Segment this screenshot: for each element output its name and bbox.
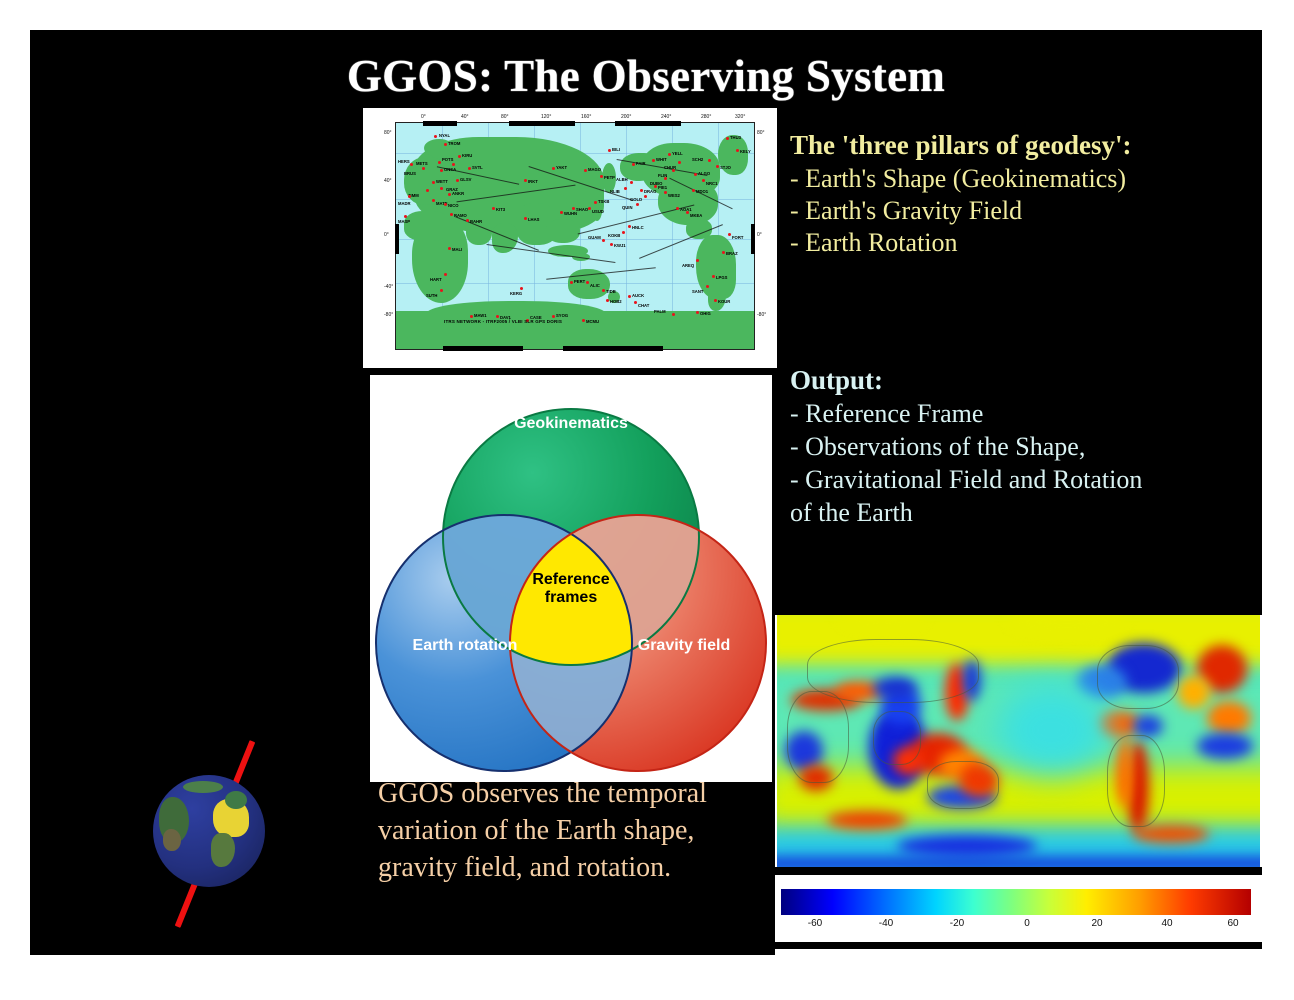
pillar-item: - Earth Rotation xyxy=(790,228,1260,258)
colorbar-tick: -60 xyxy=(808,918,822,929)
station-label: TROM xyxy=(448,141,460,146)
station-label: RAMO xyxy=(454,213,467,218)
station-label: QUIN xyxy=(622,205,632,210)
station-label: SANT xyxy=(692,289,703,294)
station-label: POTS xyxy=(442,157,453,162)
station-label: KELY xyxy=(740,149,751,154)
venn-label-gravity-field: Gravity field xyxy=(632,637,736,655)
station-label: KWJ1 xyxy=(614,243,626,248)
station-label: FORT xyxy=(732,235,743,240)
colorbar-tick: 60 xyxy=(1227,918,1238,929)
map-credit-text: ITRS NETWORK - ITRF2005 / VLBI SLR GPS D… xyxy=(444,319,562,324)
station-label: MAGO xyxy=(588,167,601,172)
station-label: ALBH xyxy=(616,177,628,182)
map-xtick: 120° xyxy=(541,114,551,120)
venn-label-geokinematics: Geokinematics xyxy=(491,415,651,433)
station-label: LPGS xyxy=(716,275,727,280)
colorbar-tick: -20 xyxy=(950,918,964,929)
map-ytick: -40° xyxy=(384,284,393,290)
station-label: MADR xyxy=(398,201,411,206)
station-label: BRUS xyxy=(404,171,416,176)
map-xtick: 240° xyxy=(661,114,671,120)
gravity-map-image xyxy=(777,615,1260,867)
map-xtick: 320° xyxy=(735,114,745,120)
map-ytick: 80° xyxy=(384,130,392,136)
colorbar-tick: -40 xyxy=(879,918,893,929)
station-label: DRAO xyxy=(644,189,656,194)
station-label: MAW1 xyxy=(474,313,487,318)
output-item: - Reference Frame xyxy=(790,399,1262,429)
station-label: SUTH xyxy=(426,293,437,298)
station-label: TIDB xyxy=(606,289,616,294)
station-label: STJO xyxy=(720,165,731,170)
station-label: WES2 xyxy=(668,193,680,198)
station-label: NICO xyxy=(448,203,458,208)
map-ytick-right: -80° xyxy=(757,312,766,318)
station-label: WUHN xyxy=(564,211,577,216)
caption-text: GGOS observes the temporal variation of … xyxy=(378,775,738,887)
station-label: KERG xyxy=(510,291,522,296)
station-label: GOLD xyxy=(630,197,642,202)
station-label: NLIB xyxy=(610,189,620,194)
map-ytick-right: 80° xyxy=(757,130,765,136)
three-pillars-block: The 'three pillars of geodesy': - Earth'… xyxy=(790,130,1260,260)
venn-label-reference-frames: Reference frames xyxy=(512,571,630,608)
station-label: MCMU xyxy=(586,319,599,324)
station-label: USUD xyxy=(592,209,604,214)
station-label: KIRU xyxy=(462,153,472,158)
station-label: SHAO xyxy=(576,207,588,212)
pillar-item: - Earth's Gravity Field xyxy=(790,196,1260,226)
station-label: TSKB xyxy=(598,199,609,204)
station-label: PERT xyxy=(574,279,585,284)
colorbar-baseline-rule xyxy=(775,942,1262,949)
station-label: YAKT xyxy=(556,165,567,170)
station-map-canvas: NYAL KIRU ONSA METS WETT ZIMM MADR MATE … xyxy=(395,122,755,350)
station-label: BAHR xyxy=(470,219,482,224)
station-label: SCH2 xyxy=(692,157,703,162)
output-heading: Output: xyxy=(790,365,1262,396)
venn-diagram-image: Geokinematics Earth rotation Gravity fie… xyxy=(370,375,772,782)
station-label: IRKT xyxy=(528,179,538,184)
station-map-image: 0° 40° 80° 120° 160° 200° 240° 280° 320°… xyxy=(383,114,767,362)
colorbar-tick: 20 xyxy=(1091,918,1102,929)
map-ytick-right: 0° xyxy=(757,232,762,238)
gravity-map-bottom-rule xyxy=(775,867,1262,875)
map-ytick: 0° xyxy=(384,232,389,238)
station-label: WHIT xyxy=(656,157,667,162)
earth-globe-icon xyxy=(153,775,265,887)
venn-label-earth-rotation: Earth rotation xyxy=(406,637,524,655)
station-label: METS xyxy=(416,161,428,166)
station-label: AREQ xyxy=(682,263,694,268)
station-label: OHIG xyxy=(700,311,711,316)
station-label: WETT xyxy=(436,179,448,184)
station-label: MALI xyxy=(452,247,462,252)
station-label: NYAL xyxy=(439,133,450,138)
pillar-item: - Earth's Shape (Geokinematics) xyxy=(790,164,1260,194)
station-label: ALIC xyxy=(590,283,600,288)
station-label: KIT3 xyxy=(496,207,505,212)
station-label: GUAM xyxy=(588,235,601,240)
slide-canvas: GGOS: The Observing System 0° 40° 80° 12… xyxy=(30,30,1262,955)
station-label: BRAZ xyxy=(726,251,738,256)
station-label: ALGO xyxy=(698,171,710,176)
station-label: HERS xyxy=(398,159,410,164)
station-label: GLSV xyxy=(460,177,471,182)
map-xtick: 80° xyxy=(501,114,509,120)
map-xtick: 160° xyxy=(581,114,591,120)
station-label: LHAS xyxy=(528,217,539,222)
station-label: CHAT xyxy=(638,303,649,308)
colorbar-tick: 40 xyxy=(1161,918,1172,929)
station-label: ANKR xyxy=(452,191,464,196)
station-label: AUCK xyxy=(632,293,644,298)
page-title: GGOS: The Observing System xyxy=(30,50,1262,102)
output-item: - Gravitational Field and Rotation xyxy=(790,465,1262,495)
station-label: BILI xyxy=(612,147,620,152)
station-label: ONSA xyxy=(444,167,456,172)
station-label: PALM xyxy=(654,309,666,314)
station-label: KOKB xyxy=(608,233,620,238)
output-item: - Observations of the Shape, xyxy=(790,432,1262,462)
station-label: HART xyxy=(430,277,442,282)
station-label: HOB2 xyxy=(610,299,622,304)
output-item: of the Earth xyxy=(790,498,1262,528)
station-label: MASP xyxy=(398,219,410,224)
map-xtick: 280° xyxy=(701,114,711,120)
map-xtick: 200° xyxy=(621,114,631,120)
earth-globe-figure xyxy=(120,730,310,940)
station-label: PETP xyxy=(604,175,615,180)
station-label: YELL xyxy=(672,151,683,156)
station-label: SYOG xyxy=(556,313,568,318)
map-xtick: 0° xyxy=(421,114,426,120)
station-label: NRC1 xyxy=(706,181,717,186)
station-map-panel: 0° 40° 80° 120° 160° 200° 240° 280° 320°… xyxy=(363,108,777,368)
station-label: FAIR xyxy=(636,161,646,166)
station-label: PIE1 xyxy=(658,185,667,190)
colorbar-tick: 0 xyxy=(1024,918,1030,929)
station-label: THU3 xyxy=(730,135,741,140)
three-pillars-heading: The 'three pillars of geodesy': xyxy=(790,130,1260,161)
gravity-colorbar xyxy=(781,889,1251,915)
station-label: SVTL xyxy=(472,165,483,170)
map-ytick: -80° xyxy=(384,312,393,318)
venn-diagram-panel: Geokinematics Earth rotation Gravity fie… xyxy=(370,375,772,782)
map-xtick: 40° xyxy=(461,114,469,120)
gravity-map-panel: -60 -40 -20 0 20 40 60 xyxy=(775,615,1262,955)
output-block: Output: - Reference Frame - Observations… xyxy=(790,365,1262,531)
station-label: MDO1 xyxy=(696,189,708,194)
station-label: KOUR xyxy=(718,299,730,304)
map-ytick: 40° xyxy=(384,178,392,184)
station-label: HNLC xyxy=(632,225,644,230)
station-label: MKEA xyxy=(690,213,702,218)
